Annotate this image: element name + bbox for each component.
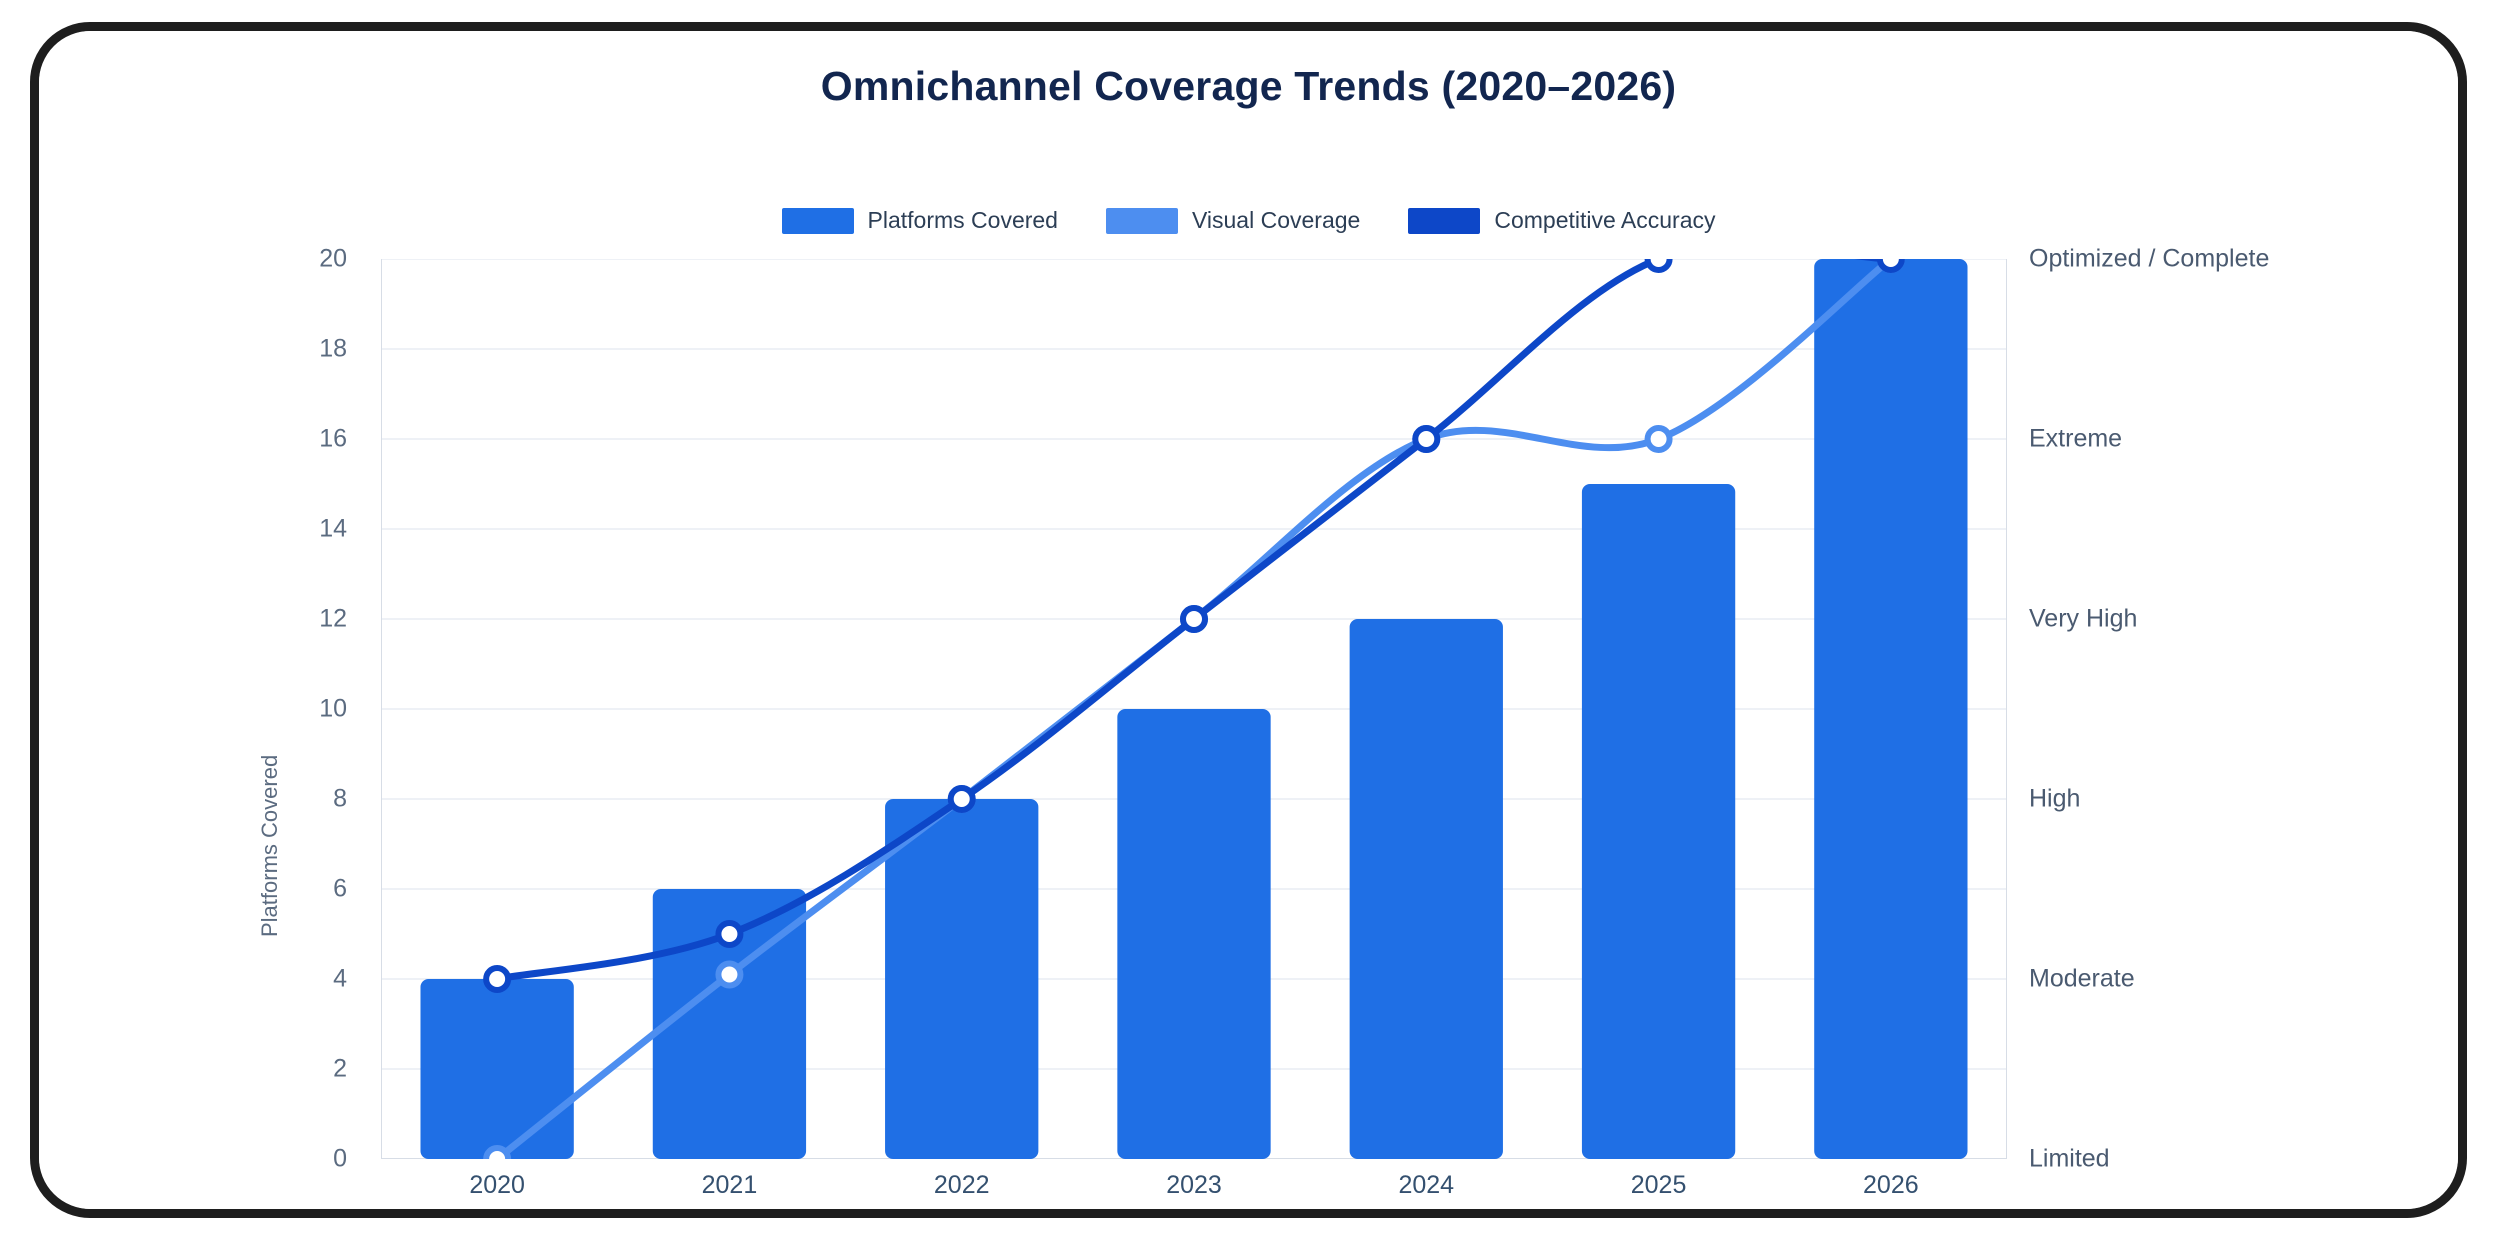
legend-item-label: Platforms Covered [868, 207, 1058, 234]
y-axis-left-tick-label: 16 [319, 425, 347, 454]
x-axis-tick-label: 2020 [469, 1171, 525, 1200]
legend-item[interactable]: Visual Coverage [1106, 207, 1360, 234]
legend-item[interactable]: Competitive Accuracy [1408, 207, 1715, 234]
chart-card: Omnichannel Coverage Trends (2020–2026) … [39, 31, 2458, 1209]
data-point-marker[interactable] [1648, 259, 1670, 270]
y-axis-left-tick-label: 18 [319, 335, 347, 364]
bar[interactable] [420, 979, 573, 1159]
y-axis-left-tick-label: 14 [319, 515, 347, 544]
x-axis-tick-label: 2025 [1631, 1171, 1687, 1200]
y-axis-right-tick-label: Limited [2029, 1145, 2110, 1174]
x-axis-tick-label: 2021 [702, 1171, 758, 1200]
y-axis-left: Platforms Covered 02468101214161820 [39, 259, 369, 1159]
y-axis-right-tick-label: Extreme [2029, 425, 2122, 454]
y-axis-left-tick-label: 6 [333, 875, 347, 904]
x-axis-tick-label: 2023 [1166, 1171, 1222, 1200]
legend-item[interactable]: Platforms Covered [782, 207, 1058, 234]
x-axis: 2020202120222023202420252026 [381, 1171, 2007, 1209]
legend-item-label: Competitive Accuracy [1494, 207, 1715, 234]
bar[interactable] [1117, 709, 1270, 1159]
data-point-marker[interactable] [718, 964, 740, 986]
chart-frame: Omnichannel Coverage Trends (2020–2026) … [30, 22, 2467, 1218]
data-point-marker[interactable] [1648, 428, 1670, 450]
legend-item-label: Visual Coverage [1192, 207, 1360, 234]
legend-swatch-icon [1408, 208, 1480, 234]
data-point-marker[interactable] [718, 923, 740, 945]
y-axis-right-tick-label: Optimized / Complete [2029, 245, 2269, 274]
data-point-marker[interactable] [486, 968, 508, 990]
data-point-marker[interactable] [486, 1148, 508, 1159]
data-point-marker[interactable] [1415, 428, 1437, 450]
bar[interactable] [885, 799, 1038, 1159]
data-point-marker[interactable] [1183, 608, 1205, 630]
y-axis-right-tick-label: High [2029, 785, 2080, 814]
y-axis-left-tick-label: 10 [319, 695, 347, 724]
y-axis-left-tick-label: 4 [333, 965, 347, 994]
bar[interactable] [1814, 259, 1967, 1159]
y-axis-right-tick-label: Moderate [2029, 965, 2135, 994]
x-axis-tick-label: 2026 [1863, 1171, 1919, 1200]
x-axis-tick-label: 2024 [1398, 1171, 1454, 1200]
x-axis-tick-label: 2022 [934, 1171, 990, 1200]
legend-swatch-icon [782, 208, 854, 234]
data-point-marker[interactable] [951, 788, 973, 810]
y-axis-left-tick-label: 20 [319, 245, 347, 274]
bar[interactable] [1582, 484, 1735, 1159]
y-axis-left-tick-label: 2 [333, 1055, 347, 1084]
bar[interactable] [1350, 619, 1503, 1159]
chart-legend: Platforms CoveredVisual CoverageCompetit… [39, 207, 2458, 234]
legend-swatch-icon [1106, 208, 1178, 234]
data-point-marker[interactable] [1880, 259, 1902, 270]
plot-svg [381, 259, 2007, 1159]
y-axis-left-tick-label: 8 [333, 785, 347, 814]
y-axis-left-tick-label: 12 [319, 605, 347, 634]
y-axis-left-title: Platforms Covered [257, 755, 283, 937]
y-axis-right: Coverage & Accuracy Level LimitedModerat… [2007, 259, 2427, 1159]
plot-area [381, 259, 2007, 1159]
y-axis-right-tick-label: Very High [2029, 605, 2137, 634]
y-axis-left-tick-label: 0 [333, 1145, 347, 1174]
page-title: Omnichannel Coverage Trends (2020–2026) [39, 63, 2458, 110]
